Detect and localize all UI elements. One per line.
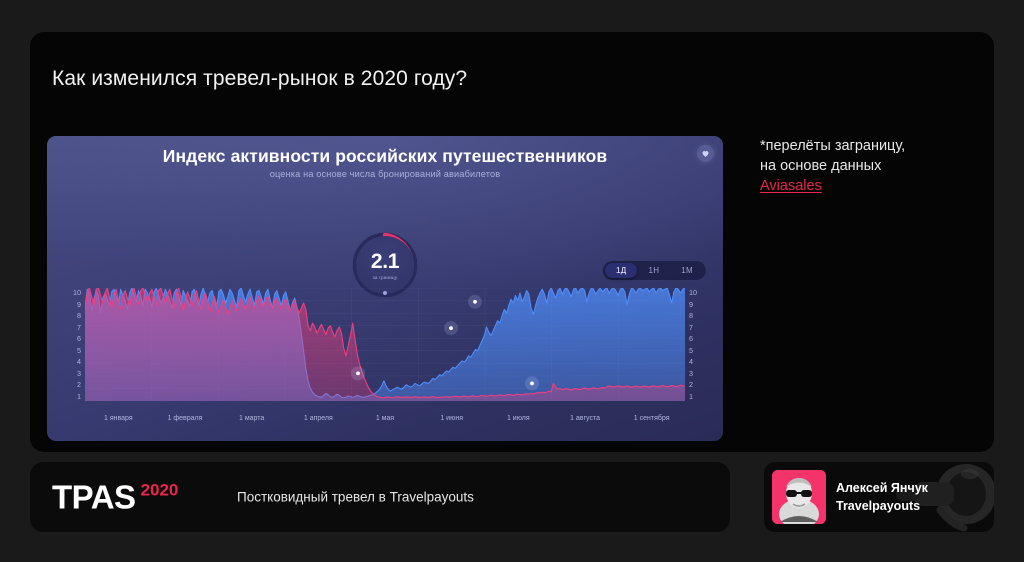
- marker-dot-2[interactable]: [473, 300, 477, 304]
- plot-area: [85, 288, 685, 401]
- speaker-name: Алексей Янчук: [836, 479, 928, 497]
- footer-caption: Постковидный тревел в Travelpayouts: [237, 490, 474, 505]
- chart-title: Индекс активности российских путешествен…: [47, 146, 723, 167]
- y-tick-right-0: 10: [689, 288, 697, 297]
- marker-dot-1[interactable]: [449, 326, 453, 330]
- footer-bar: TPAS 2020 Постковидный тревел в Travelpa…: [30, 462, 730, 532]
- y-tick-left-5: 5: [77, 346, 81, 355]
- x-tick-1: 1 февраля: [168, 415, 203, 422]
- x-tick-6: 1 июля: [507, 415, 530, 422]
- x-tick-4: 1 мая: [376, 415, 394, 422]
- marker-dot-0[interactable]: [356, 371, 360, 375]
- y-tick-left-3: 7: [77, 323, 81, 332]
- aviasales-link[interactable]: Aviasales: [760, 176, 822, 196]
- range-option-2[interactable]: 1М: [670, 263, 704, 278]
- range-option-0[interactable]: 1Д: [605, 263, 637, 278]
- x-tick-7: 1 августа: [570, 415, 600, 422]
- y-tick-right-6: 4: [689, 357, 693, 366]
- marker-dot-3[interactable]: [530, 382, 534, 386]
- y-tick-right-8: 2: [689, 380, 693, 389]
- y-tick-right-4: 6: [689, 334, 693, 343]
- chart-subtitle: оценка на основе числа бронирований авиа…: [47, 169, 723, 179]
- y-tick-left-1: 9: [77, 300, 81, 309]
- chart-panel: Индекс активности российских путешествен…: [47, 136, 723, 441]
- y-tick-left-0: 10: [73, 288, 81, 297]
- x-tick-2: 1 марта: [239, 415, 264, 422]
- y-tick-right-5: 5: [689, 346, 693, 355]
- gauge-value: 2.1: [371, 251, 399, 272]
- y-tick-right-1: 9: [689, 300, 693, 309]
- y-axis-left: 10987654321: [59, 288, 81, 401]
- x-axis: 1 января1 февраля1 марта1 апреля1 мая1 и…: [85, 415, 685, 427]
- y-tick-right-7: 3: [689, 369, 693, 378]
- y-tick-left-7: 3: [77, 369, 81, 378]
- y-tick-left-2: 8: [77, 311, 81, 320]
- footnote-line-2: на основе данных: [760, 156, 980, 176]
- tpas-logo-year: 2020: [141, 482, 179, 499]
- y-tick-left-9: 1: [77, 392, 81, 401]
- y-tick-right-2: 8: [689, 311, 693, 320]
- footnote: *перелёты заграницу, на основе данных Av…: [760, 136, 980, 196]
- x-tick-8: 1 сентября: [634, 415, 670, 422]
- x-tick-3: 1 апреля: [304, 415, 333, 422]
- speaker-info: Алексей Янчук Travelpayouts: [836, 479, 928, 515]
- y-tick-left-8: 2: [77, 380, 81, 389]
- range-toggle[interactable]: 1Д 1Н 1М: [602, 260, 707, 281]
- x-tick-5: 1 июня: [440, 415, 463, 422]
- slide-root: Как изменился тревел-рынок в 2020 году? …: [0, 0, 1024, 562]
- y-tick-right-9: 1: [689, 392, 693, 401]
- x-tick-0: 1 января: [104, 415, 133, 422]
- tpas-logo-text: TPAS: [52, 481, 136, 514]
- y-tick-left-4: 6: [77, 334, 81, 343]
- tpas-logo: TPAS 2020: [52, 481, 178, 514]
- content-card: Как изменился тревел-рынок в 2020 году? …: [30, 32, 994, 452]
- speaker-org: Travelpayouts: [836, 497, 928, 515]
- y-axis-right: 10987654321: [689, 288, 711, 401]
- speaker-card: Алексей Янчук Travelpayouts: [764, 462, 994, 532]
- page-title: Как изменился тревел-рынок в 2020 году?: [52, 67, 467, 91]
- y-tick-left-6: 4: [77, 357, 81, 366]
- range-option-1[interactable]: 1Н: [637, 263, 670, 278]
- heart-icon[interactable]: [697, 145, 714, 162]
- gauge-face: 2.1 за границу: [356, 236, 414, 294]
- avatar: [772, 470, 826, 524]
- gauge-label: за границу: [373, 275, 398, 280]
- y-tick-right-3: 7: [689, 323, 693, 332]
- footnote-line-1: *перелёты заграницу,: [760, 136, 980, 156]
